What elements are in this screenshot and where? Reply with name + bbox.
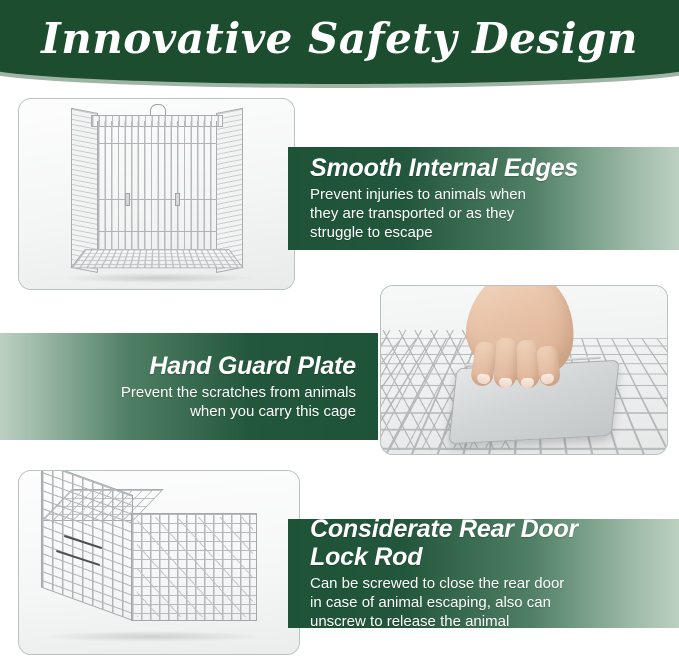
- cage-latch: [175, 193, 180, 206]
- feature-text-band-1: Smooth Internal Edges Prevent injuries t…: [288, 147, 679, 250]
- cage-cross-bar: [97, 143, 217, 144]
- feature-body-2: Prevent the scratches from animals when …: [121, 384, 356, 422]
- cage-body: [71, 113, 243, 273]
- front-view-cage-photo: [19, 99, 294, 289]
- feature-title-1: Smooth Internal Edges: [310, 154, 663, 182]
- product-shadow: [45, 631, 259, 642]
- hand-guard-plate-photo: [381, 286, 667, 454]
- feature-text-band-2: Hand Guard Plate Prevent the scratches f…: [0, 333, 378, 440]
- feature-image-card-1: [18, 98, 295, 290]
- page-title: Innovative Safety Design: [0, 14, 679, 63]
- feature-title-3: Considerate Rear Door Lock Rod: [310, 515, 663, 571]
- angled-cage-photo: [19, 471, 299, 654]
- feature-image-card-3: [18, 470, 300, 655]
- cage-latch: [125, 193, 130, 206]
- cage-front-bars: [97, 121, 217, 261]
- product-shadow: [63, 273, 253, 283]
- header-banner: Innovative Safety Design: [0, 0, 679, 90]
- cage-diagonal-wires: [137, 517, 253, 617]
- cage-floor-mesh: [70, 249, 244, 268]
- feature-title-2: Hand Guard Plate: [149, 352, 356, 380]
- feature-body-1: Prevent injuries to animals when they ar…: [310, 186, 663, 242]
- feature-body-3: Can be screwed to close the rear door in…: [310, 575, 663, 631]
- cage-cross-bar: [97, 231, 217, 232]
- feature-text-band-3: Considerate Rear Door Lock Rod Can be sc…: [288, 519, 679, 628]
- feature-image-card-2: [380, 285, 668, 455]
- cage-cross-bar: [97, 199, 217, 200]
